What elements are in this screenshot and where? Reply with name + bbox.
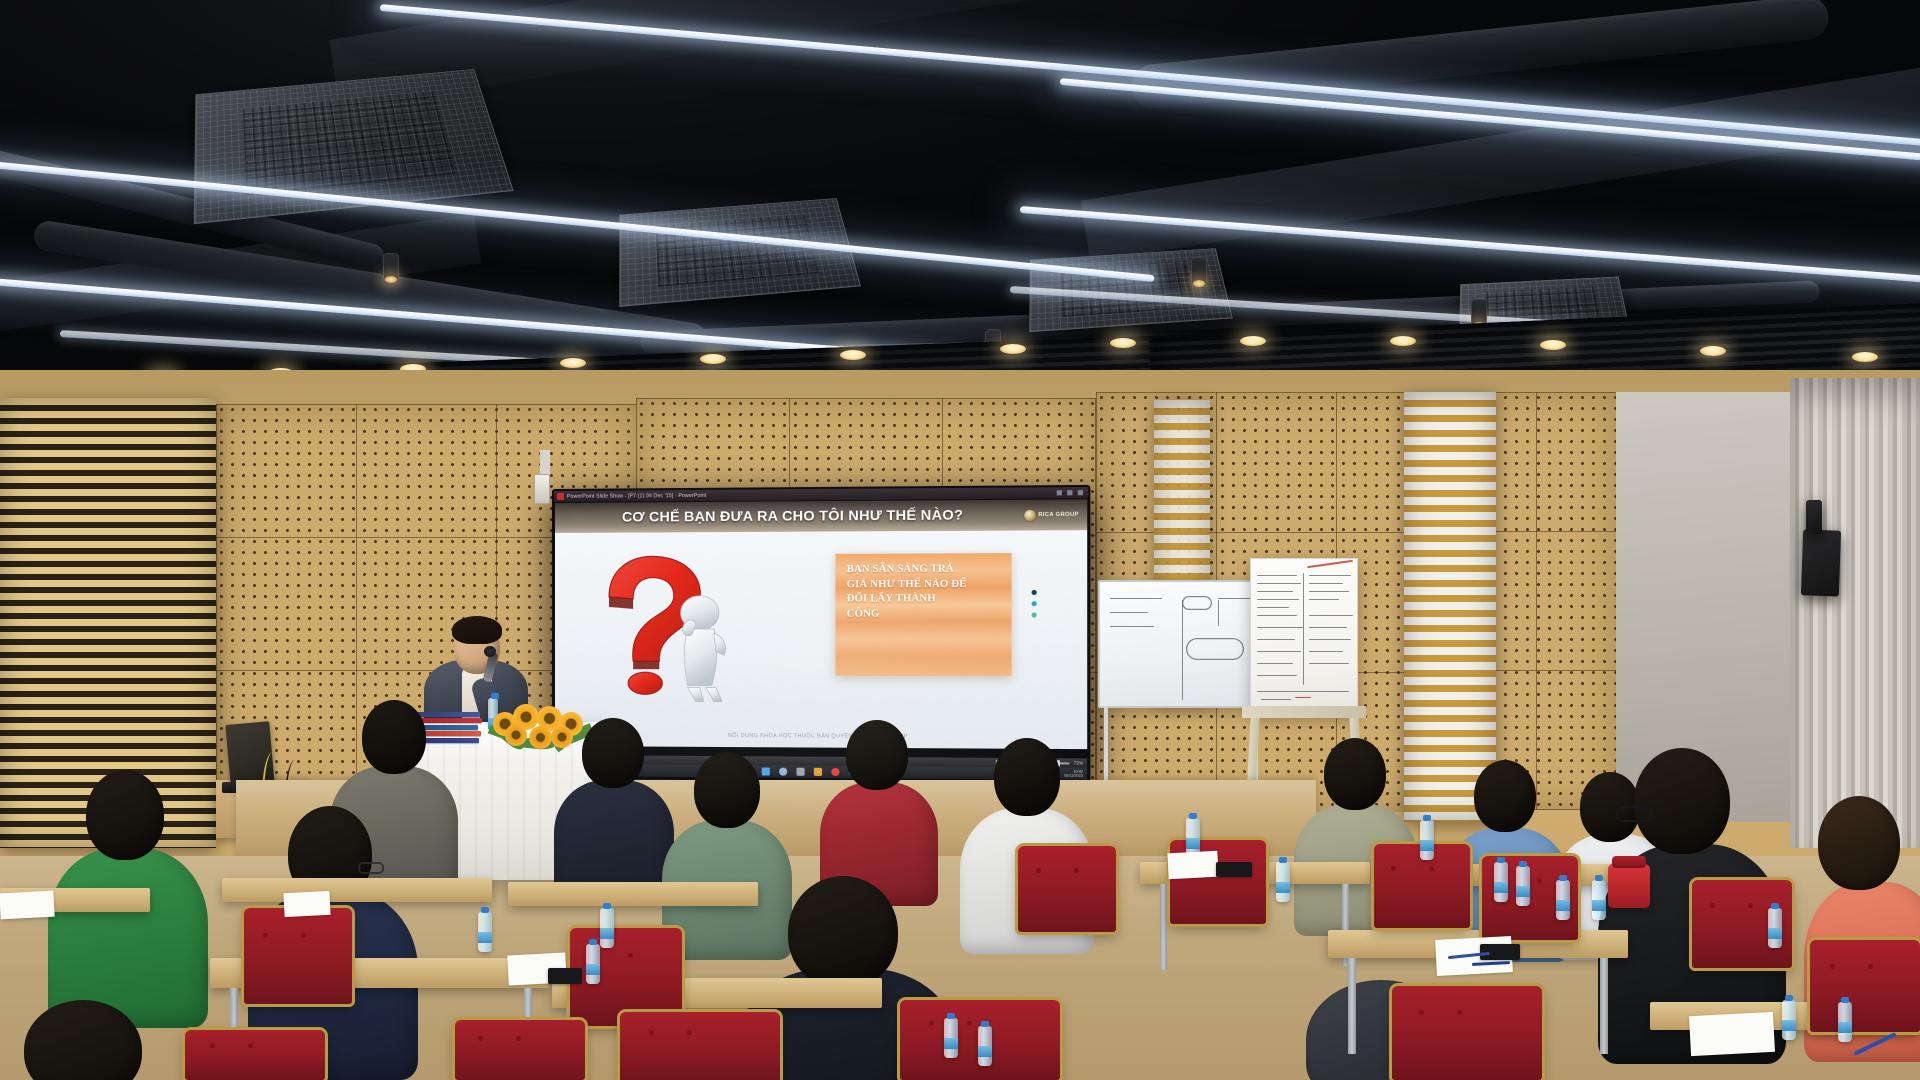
water-bottle <box>1494 862 1508 902</box>
sunflower <box>505 724 527 746</box>
water-bottle <box>1782 1000 1796 1040</box>
callout-line: GIÁ NHƯ THẾ NÀO ĐỂ <box>847 577 1000 592</box>
window-curtain <box>1790 378 1920 848</box>
water-bottle <box>978 1026 992 1066</box>
flipchart-easel[interactable] <box>1250 558 1358 714</box>
water-bottle <box>1768 908 1782 948</box>
person-head <box>24 1000 142 1080</box>
callout-line: BẠN SẴN SÀNG TRẢ <box>847 562 1000 577</box>
slide-title-band: CƠ CHẾ BẠN ĐƯA RA CHO TÔI NHƯ THẾ NÀO? R… <box>555 499 1087 533</box>
handout-paper <box>283 891 330 917</box>
window-controls[interactable] <box>1057 490 1085 495</box>
red-thermos <box>1608 864 1650 908</box>
smartphone <box>1216 862 1252 877</box>
person-head <box>1818 796 1900 890</box>
question-mark-graphic <box>587 550 749 702</box>
water-bottle <box>1276 862 1290 902</box>
water-bottle <box>1556 880 1570 920</box>
desk-leg <box>1600 958 1608 1054</box>
microphone-head-icon <box>484 646 496 657</box>
seminar-room-scene: PowerPoint Slide Show - [P7 (1) 04 Dec '… <box>0 0 1920 1080</box>
eyeglasses-icon <box>1616 806 1652 822</box>
audience-person <box>820 720 938 900</box>
downlight <box>1240 336 1266 346</box>
downlight <box>560 358 586 368</box>
handout-paper <box>1689 1012 1775 1056</box>
eyeglasses-icon <box>358 862 384 874</box>
downlight <box>1852 352 1878 362</box>
person-head <box>362 700 426 774</box>
downlight <box>1110 338 1136 348</box>
red-thermos-lid <box>1612 856 1646 868</box>
slide-body: BẠN SẴN SÀNG TRẢ GIÁ NHƯ THẾ NÀO ĐỂ ĐỔI … <box>555 530 1087 749</box>
water-bottle <box>1838 1002 1852 1042</box>
audience-person <box>0 1000 190 1080</box>
water-bottle <box>478 912 492 952</box>
person-head <box>582 718 644 788</box>
rica-group-logo: RICA GROUP <box>1025 509 1079 521</box>
flipchart-tray <box>1242 706 1366 718</box>
water-bottle <box>600 908 614 948</box>
water-bottle <box>1592 880 1606 920</box>
person-head <box>694 752 760 828</box>
downlight <box>700 354 726 364</box>
wall-speaker <box>1801 529 1841 596</box>
water-bottle <box>944 1018 958 1058</box>
statement-callout-box: BẠN SẴN SÀNG TRẢ GIÁ NHƯ THẾ NÀO ĐỂ ĐỔI … <box>835 553 1011 676</box>
downlight <box>1700 346 1726 356</box>
indicator-dot <box>1032 601 1037 606</box>
person-head <box>1324 738 1386 810</box>
person-head <box>86 770 164 860</box>
training-desk <box>222 878 492 902</box>
downlight <box>1000 344 1026 354</box>
training-desk <box>508 882 758 906</box>
powerpoint-window-title: PowerPoint Slide Show - [P7 (1) 04 Dec '… <box>567 492 706 499</box>
callout-line: ĐỔI LẤY THÀNH <box>847 592 1000 607</box>
close-icon[interactable] <box>1078 490 1083 495</box>
handout-paper <box>0 891 55 920</box>
banquet-chair <box>185 1030 325 1080</box>
task-view-icon[interactable] <box>796 768 804 776</box>
whiteboard[interactable] <box>1098 580 1262 708</box>
wall-speaker-bracket <box>1806 500 1822 534</box>
powerpoint-slide: CƠ CHẾ BẠN ĐƯA RA CHO TÔI NHƯ THẾ NÀO? R… <box>555 499 1087 749</box>
banquet-chair <box>1810 940 1920 1032</box>
banquet-chair <box>1392 986 1542 1080</box>
minimize-icon[interactable] <box>1057 490 1062 495</box>
handout-paper <box>1167 851 1218 880</box>
banquet-chair <box>244 908 352 1004</box>
downlight <box>1390 336 1416 346</box>
callout-line: CÔNG <box>847 607 1000 622</box>
indicator-dot <box>1032 590 1037 595</box>
water-bottle <box>1420 820 1434 860</box>
downlight <box>840 350 866 360</box>
indicator-dots <box>1032 590 1037 618</box>
banquet-chair <box>620 1012 780 1080</box>
person-head <box>788 876 898 988</box>
powerpoint-logo-icon <box>557 493 564 500</box>
rica-logo-text: RICA GROUP <box>1038 512 1079 518</box>
downlight <box>1540 340 1566 350</box>
water-bottle <box>1516 866 1530 906</box>
audience-person <box>554 718 674 898</box>
whiteboard-leg <box>1104 706 1108 790</box>
desk-leg <box>1348 958 1356 1054</box>
projector-control-panel <box>534 474 550 504</box>
person-head <box>846 720 908 790</box>
spot-light <box>384 254 398 280</box>
rica-emblem-icon <box>1025 509 1037 520</box>
indicator-dot <box>1032 612 1037 617</box>
banquet-chair <box>1018 846 1116 932</box>
slide-title: CƠ CHẾ BẠN ĐƯA RA CHO TÔI NHƯ THẾ NÀO? <box>563 507 1025 526</box>
person-head <box>1634 748 1730 854</box>
person-head <box>1474 760 1536 832</box>
spot-light <box>1192 258 1206 284</box>
water-bottle <box>586 944 600 984</box>
desk-leg <box>1160 884 1167 970</box>
question-mark-icon <box>587 550 749 702</box>
person-head <box>994 738 1060 816</box>
restore-icon[interactable] <box>1067 490 1072 495</box>
presenter-hair <box>452 616 502 644</box>
smartphone <box>548 968 582 984</box>
sunflower <box>529 726 552 749</box>
banquet-chair <box>455 1020 585 1080</box>
